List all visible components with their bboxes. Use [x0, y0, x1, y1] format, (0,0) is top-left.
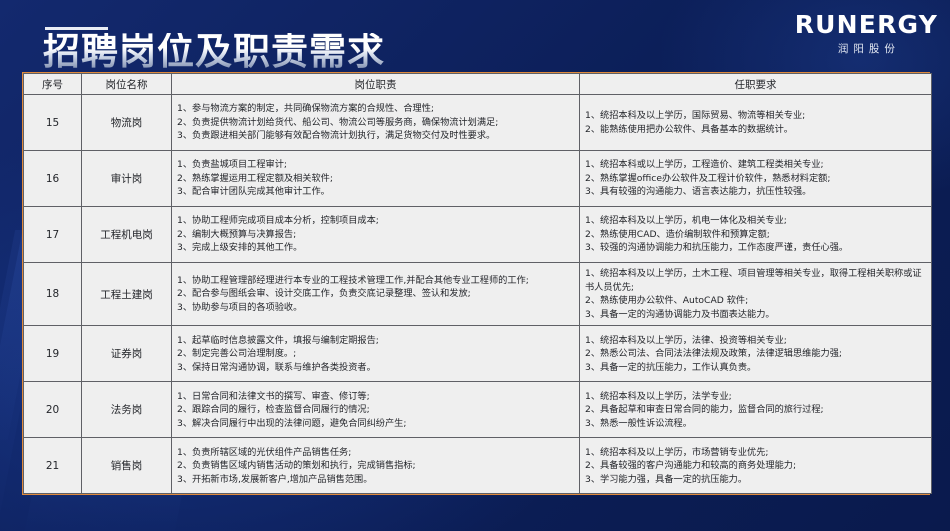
list-item: 1、日常合同和法律文书的撰写、审查、修订等;	[177, 390, 575, 404]
list-item: 2、制定完善公司治理制度。;	[177, 347, 575, 361]
list-item: 3、协助参与项目的各项验收。	[177, 301, 575, 315]
logo-wordmark: RUNERGY	[795, 12, 938, 37]
list-item: 3、解决合同履行中出现的法律问题，避免合同纠纷产生;	[177, 417, 575, 431]
cell-sequence-number: 20	[24, 382, 82, 438]
table-row: 21销售岗1、负责所辖区域的光伏组件产品销售任务;2、负责销售区域内销售活动的策…	[24, 438, 932, 494]
list-item: 1、起草临时信息披露文件，填报与编制定期报告;	[177, 334, 575, 348]
list-item: 3、配合审计团队完成其他审计工作。	[177, 185, 575, 199]
table-header: 序号 岗位名称 岗位职责 任职要求	[24, 74, 932, 95]
cell-job-requirements: 1、统招本科及以上学历，土木工程、项目管理等相关专业，取得工程相关职称或证书人员…	[580, 263, 932, 326]
list-item: 1、参与物流方案的制定，共同确保物流方案的合规性、合理性;	[177, 102, 575, 116]
list-item: 3、学习能力强，具备一定的抗压能力。	[585, 473, 927, 487]
cell-sequence-number: 15	[24, 95, 82, 151]
cell-job-title: 销售岗	[82, 438, 172, 494]
cell-job-title: 工程机电岗	[82, 207, 172, 263]
table-row: 20法务岗1、日常合同和法律文书的撰写、审查、修订等;2、跟踪合同的履行，检查监…	[24, 382, 932, 438]
list-item: 2、跟踪合同的履行，检查监督合同履行的情况;	[177, 403, 575, 417]
list-item: 2、具备起草和审查日常合同的能力，监督合同的旅行过程;	[585, 403, 927, 417]
cell-job-requirements: 1、统招本科及以上学历，国际贸易、物流等相关专业;2、能熟练使用把办公软件、具备…	[580, 95, 932, 151]
cell-job-title: 审计岗	[82, 151, 172, 207]
list-item: 1、负责盐城项目工程审计;	[177, 158, 575, 172]
list-item: 3、保持日常沟通协调，联系与维护各类投资者。	[177, 361, 575, 375]
list-item: 1、统招本科及以上学历，国际贸易、物流等相关专业;	[585, 109, 927, 123]
table-row: 15物流岗1、参与物流方案的制定，共同确保物流方案的合规性、合理性;2、负责提供…	[24, 95, 932, 151]
table-row: 17工程机电岗1、协助工程师完成项目成本分析，控制项目成本;2、编制大概预算与决…	[24, 207, 932, 263]
list-item: 3、完成上级安排的其他工作。	[177, 241, 575, 255]
list-item: 1、统招本科及以上学历，法律、投资等相关专业;	[585, 334, 927, 348]
cell-job-title: 法务岗	[82, 382, 172, 438]
cell-job-title: 物流岗	[82, 95, 172, 151]
table-body: 15物流岗1、参与物流方案的制定，共同确保物流方案的合规性、合理性;2、负责提供…	[24, 95, 932, 494]
list-item: 3、熟悉一般性诉讼流程。	[585, 417, 927, 431]
list-item: 2、熟练使用CAD、造价编制软件和预算定额;	[585, 228, 927, 242]
cell-sequence-number: 16	[24, 151, 82, 207]
cell-sequence-number: 21	[24, 438, 82, 494]
list-item: 2、负责提供物流计划给货代、船公司、物流公司等服务商，确保物流计划满足;	[177, 116, 575, 130]
cell-sequence-number: 19	[24, 326, 82, 382]
cell-sequence-number: 17	[24, 207, 82, 263]
company-logo: RUNERGY 润阳股份	[795, 12, 938, 55]
table-row: 16审计岗1、负责盐城项目工程审计;2、熟练掌握运用工程定额及相关软件;3、配合…	[24, 151, 932, 207]
column-header-req: 任职要求	[580, 74, 932, 95]
list-item: 3、具有较强的沟通能力、语言表达能力，抗压性较强。	[585, 185, 927, 199]
job-table-container: 序号 岗位名称 岗位职责 任职要求 15物流岗1、参与物流方案的制定，共同确保物…	[22, 72, 930, 495]
cell-job-duties: 1、协助工程师完成项目成本分析，控制项目成本;2、编制大概预算与决算报告;3、完…	[172, 207, 580, 263]
cell-job-title: 证券岗	[82, 326, 172, 382]
column-header-duty: 岗位职责	[172, 74, 580, 95]
list-item: 1、统招本科或以上学历，工程造价、建筑工程类相关专业;	[585, 158, 927, 172]
list-item: 3、开拓新市场,发展新客户,增加产品销售范围。	[177, 473, 575, 487]
job-table: 序号 岗位名称 岗位职责 任职要求 15物流岗1、参与物流方案的制定，共同确保物…	[23, 73, 932, 494]
slide-root: 招聘岗位及职责需求 RUNERGY 润阳股份 序号 岗位名称 岗位职责 任职要求…	[0, 0, 950, 531]
cell-job-duties: 1、负责盐城项目工程审计;2、熟练掌握运用工程定额及相关软件;3、配合审计团队完…	[172, 151, 580, 207]
list-item: 1、统招本科及以上学历，市场营销专业优先;	[585, 446, 927, 460]
cell-job-requirements: 1、统招本科及以上学历，机电一体化及相关专业;2、熟练使用CAD、造价编制软件和…	[580, 207, 932, 263]
list-item: 1、协助工程师完成项目成本分析，控制项目成本;	[177, 214, 575, 228]
list-item: 1、统招本科及以上学历，土木工程、项目管理等相关专业，取得工程相关职称或证书人员…	[585, 267, 927, 294]
list-item: 3、具备一定的抗压能力，工作认真负责。	[585, 361, 927, 375]
list-item: 2、配合参与图纸会审、设计交底工作，负责交底记录整理、签认和发放;	[177, 287, 575, 301]
list-item: 2、具备较强的客户沟通能力和较高的商务处理能力;	[585, 459, 927, 473]
cell-job-requirements: 1、统招本科或以上学历，工程造价、建筑工程类相关专业;2、熟练掌握office办…	[580, 151, 932, 207]
page-title: 招聘岗位及职责需求	[43, 33, 385, 70]
cell-job-title: 工程土建岗	[82, 263, 172, 326]
list-item: 2、熟练使用办公软件、AutoCAD 软件;	[585, 294, 927, 308]
cell-job-duties: 1、负责所辖区域的光伏组件产品销售任务;2、负责销售区域内销售活动的策划和执行，…	[172, 438, 580, 494]
list-item: 2、熟练掌握运用工程定额及相关软件;	[177, 172, 575, 186]
list-item: 2、编制大概预算与决算报告;	[177, 228, 575, 242]
cell-job-duties: 1、协助工程管理部经理进行本专业的工程技术管理工作,并配合其他专业工程师的工作;…	[172, 263, 580, 326]
table-header-row: 序号 岗位名称 岗位职责 任职要求	[24, 74, 932, 95]
list-item: 2、能熟练使用把办公软件、具备基本的数据统计。	[585, 123, 927, 137]
list-item: 1、统招本科及以上学历，法学专业;	[585, 390, 927, 404]
cell-job-duties: 1、日常合同和法律文书的撰写、审查、修订等;2、跟踪合同的履行，检查监督合同履行…	[172, 382, 580, 438]
cell-job-requirements: 1、统招本科及以上学历，法律、投资等相关专业;2、熟悉公司法、合同法法律法规及政…	[580, 326, 932, 382]
list-item: 1、协助工程管理部经理进行本专业的工程技术管理工作,并配合其他专业工程师的工作;	[177, 274, 575, 288]
list-item: 3、较强的沟通协调能力和抗压能力，工作态度严谨，责任心强。	[585, 241, 927, 255]
cell-job-requirements: 1、统招本科及以上学历，市场营销专业优先;2、具备较强的客户沟通能力和较高的商务…	[580, 438, 932, 494]
table-row: 19证券岗1、起草临时信息披露文件，填报与编制定期报告;2、制定完善公司治理制度…	[24, 326, 932, 382]
list-item: 3、具备一定的沟通协调能力及书面表达能力。	[585, 308, 927, 322]
list-item: 1、负责所辖区域的光伏组件产品销售任务;	[177, 446, 575, 460]
list-item: 2、熟练掌握office办公软件及工程计价软件，熟悉材料定额;	[585, 172, 927, 186]
list-item: 2、负责销售区域内销售活动的策划和执行，完成销售指标;	[177, 459, 575, 473]
logo-chinese-name: 润阳股份	[795, 44, 938, 55]
cell-job-requirements: 1、统招本科及以上学历，法学专业;2、具备起草和审查日常合同的能力，监督合同的旅…	[580, 382, 932, 438]
cell-job-duties: 1、起草临时信息披露文件，填报与编制定期报告;2、制定完善公司治理制度。;3、保…	[172, 326, 580, 382]
list-item: 2、熟悉公司法、合同法法律法规及政策，法律逻辑思维能力强;	[585, 347, 927, 361]
column-header-name: 岗位名称	[82, 74, 172, 95]
list-item: 1、统招本科及以上学历，机电一体化及相关专业;	[585, 214, 927, 228]
table-row: 18工程土建岗1、协助工程管理部经理进行本专业的工程技术管理工作,并配合其他专业…	[24, 263, 932, 326]
cell-sequence-number: 18	[24, 263, 82, 326]
list-item: 3、负责跟进相关部门能够有效配合物流计划执行，满足货物交付及时性要求。	[177, 129, 575, 143]
column-header-no: 序号	[24, 74, 82, 95]
cell-job-duties: 1、参与物流方案的制定，共同确保物流方案的合规性、合理性;2、负责提供物流计划给…	[172, 95, 580, 151]
